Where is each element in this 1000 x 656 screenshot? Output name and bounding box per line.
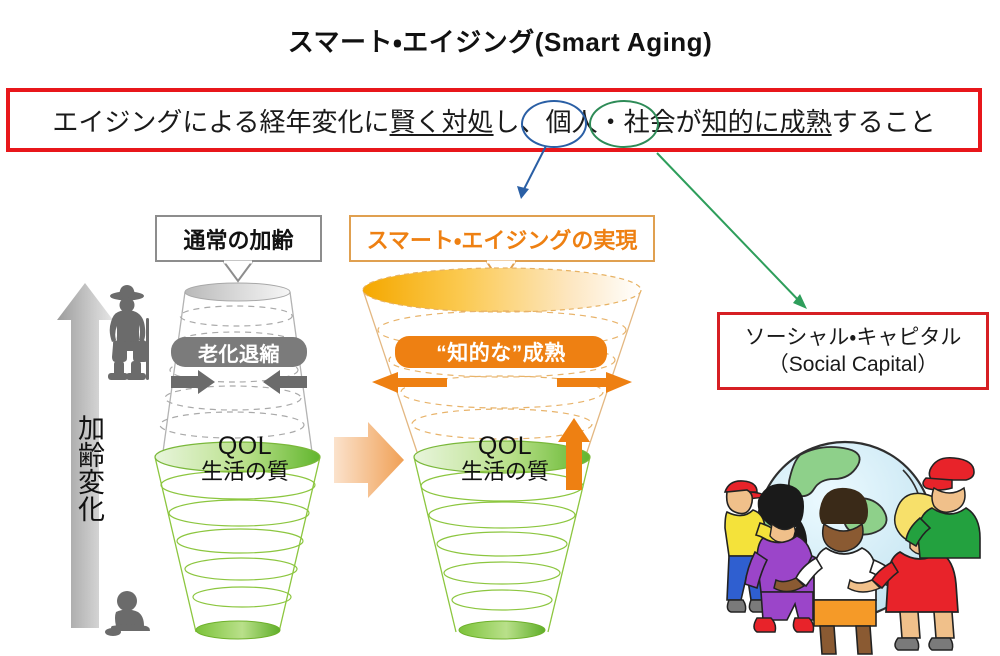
society-to-social-capital-arrow bbox=[657, 153, 807, 309]
sitting-baby-silhouette bbox=[105, 591, 150, 636]
intellectual-maturity-arrows bbox=[372, 372, 632, 393]
diagram-artwork bbox=[0, 0, 1000, 656]
elderly-man-with-cane-silhouette bbox=[108, 285, 149, 380]
individual-to-smart-aging-arrow bbox=[517, 146, 546, 199]
children-holding-hands-around-globe bbox=[725, 442, 980, 654]
intellectual-maturity-label: “知的な”成熟 bbox=[436, 337, 566, 367]
right-funnel bbox=[363, 268, 641, 639]
aging-atrophy-pill: 老化退縮 bbox=[171, 337, 307, 367]
aging-atrophy-label: 老化退縮 bbox=[198, 338, 280, 367]
intellectual-maturity-pill: “知的な”成熟 bbox=[395, 336, 607, 368]
orange-right-arrow bbox=[334, 422, 404, 498]
aging-axis-label: 加齢変化 bbox=[63, 400, 103, 535]
callout-normal-aging-tail bbox=[224, 262, 252, 281]
